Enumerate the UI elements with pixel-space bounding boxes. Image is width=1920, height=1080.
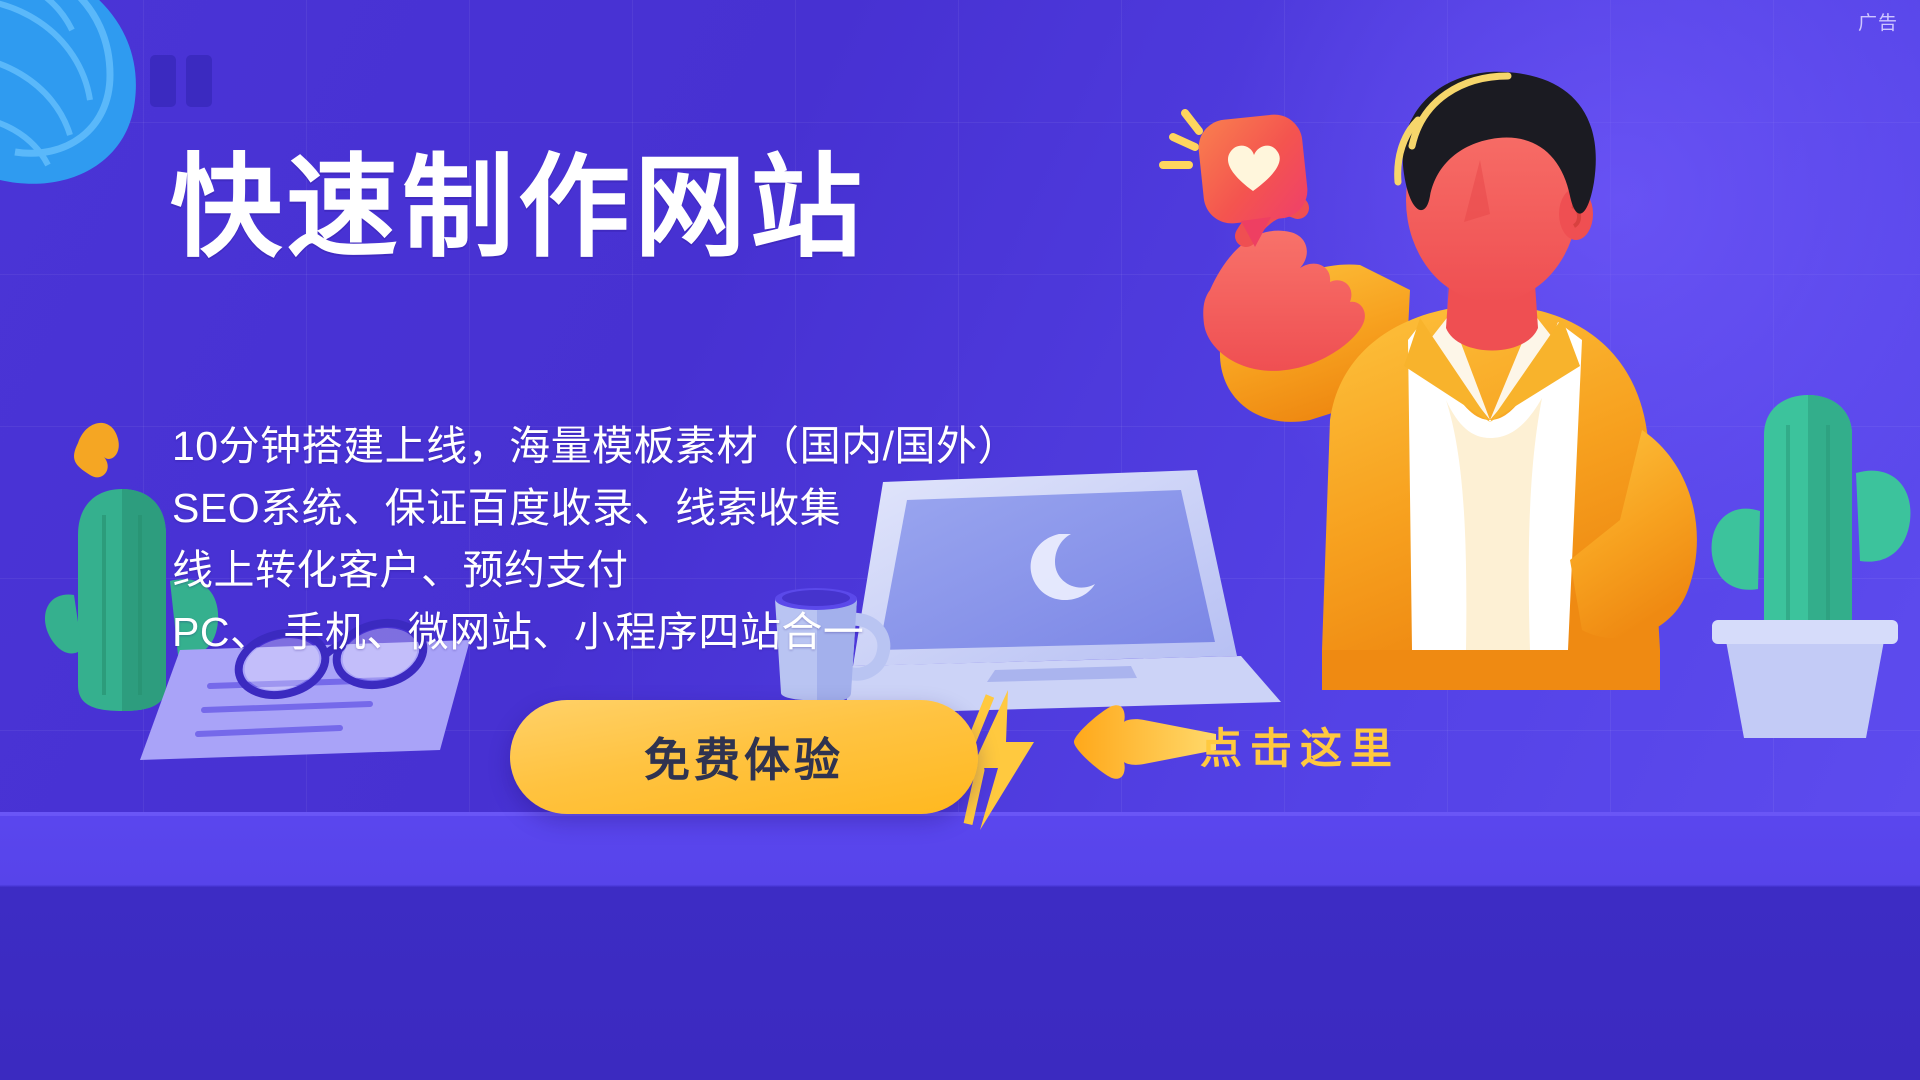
free-trial-button[interactable]: 免费体验: [510, 700, 978, 814]
plant-pot-icon: [1700, 620, 1910, 740]
click-here-hint: 点击这里: [1200, 715, 1400, 776]
lightning-bolt-icon: [968, 690, 1038, 830]
page-title: 快速制作网站: [170, 148, 866, 269]
desk-front: [0, 816, 1920, 1080]
quote-mark-icon: [150, 55, 220, 115]
feature-list: 10分钟搭建上线，海量模板素材（国内/国外） SEO系统、保证百度收录、线索收集…: [172, 415, 1019, 663]
heart-notification-icon: [1155, 95, 1345, 265]
feature-line: PC、 手机、微网站、小程序四站合一: [172, 601, 1019, 663]
free-trial-button-label: 免费体验: [644, 724, 844, 790]
feature-line: 线上转化客户、预约支付: [172, 539, 1019, 601]
left-arrow-icon: [1068, 700, 1216, 784]
feature-line: SEO系统、保证百度收录、线索收集: [172, 477, 1019, 539]
ad-label: 广告: [1858, 8, 1898, 35]
feature-line: 10分钟搭建上线，海量模板素材（国内/国外）: [172, 415, 1019, 477]
advertisement-banner: 广告 快速制作网站 10分钟搭建上线，海量模板素材（国内/国外） SEO系统、保…: [0, 0, 1920, 1080]
